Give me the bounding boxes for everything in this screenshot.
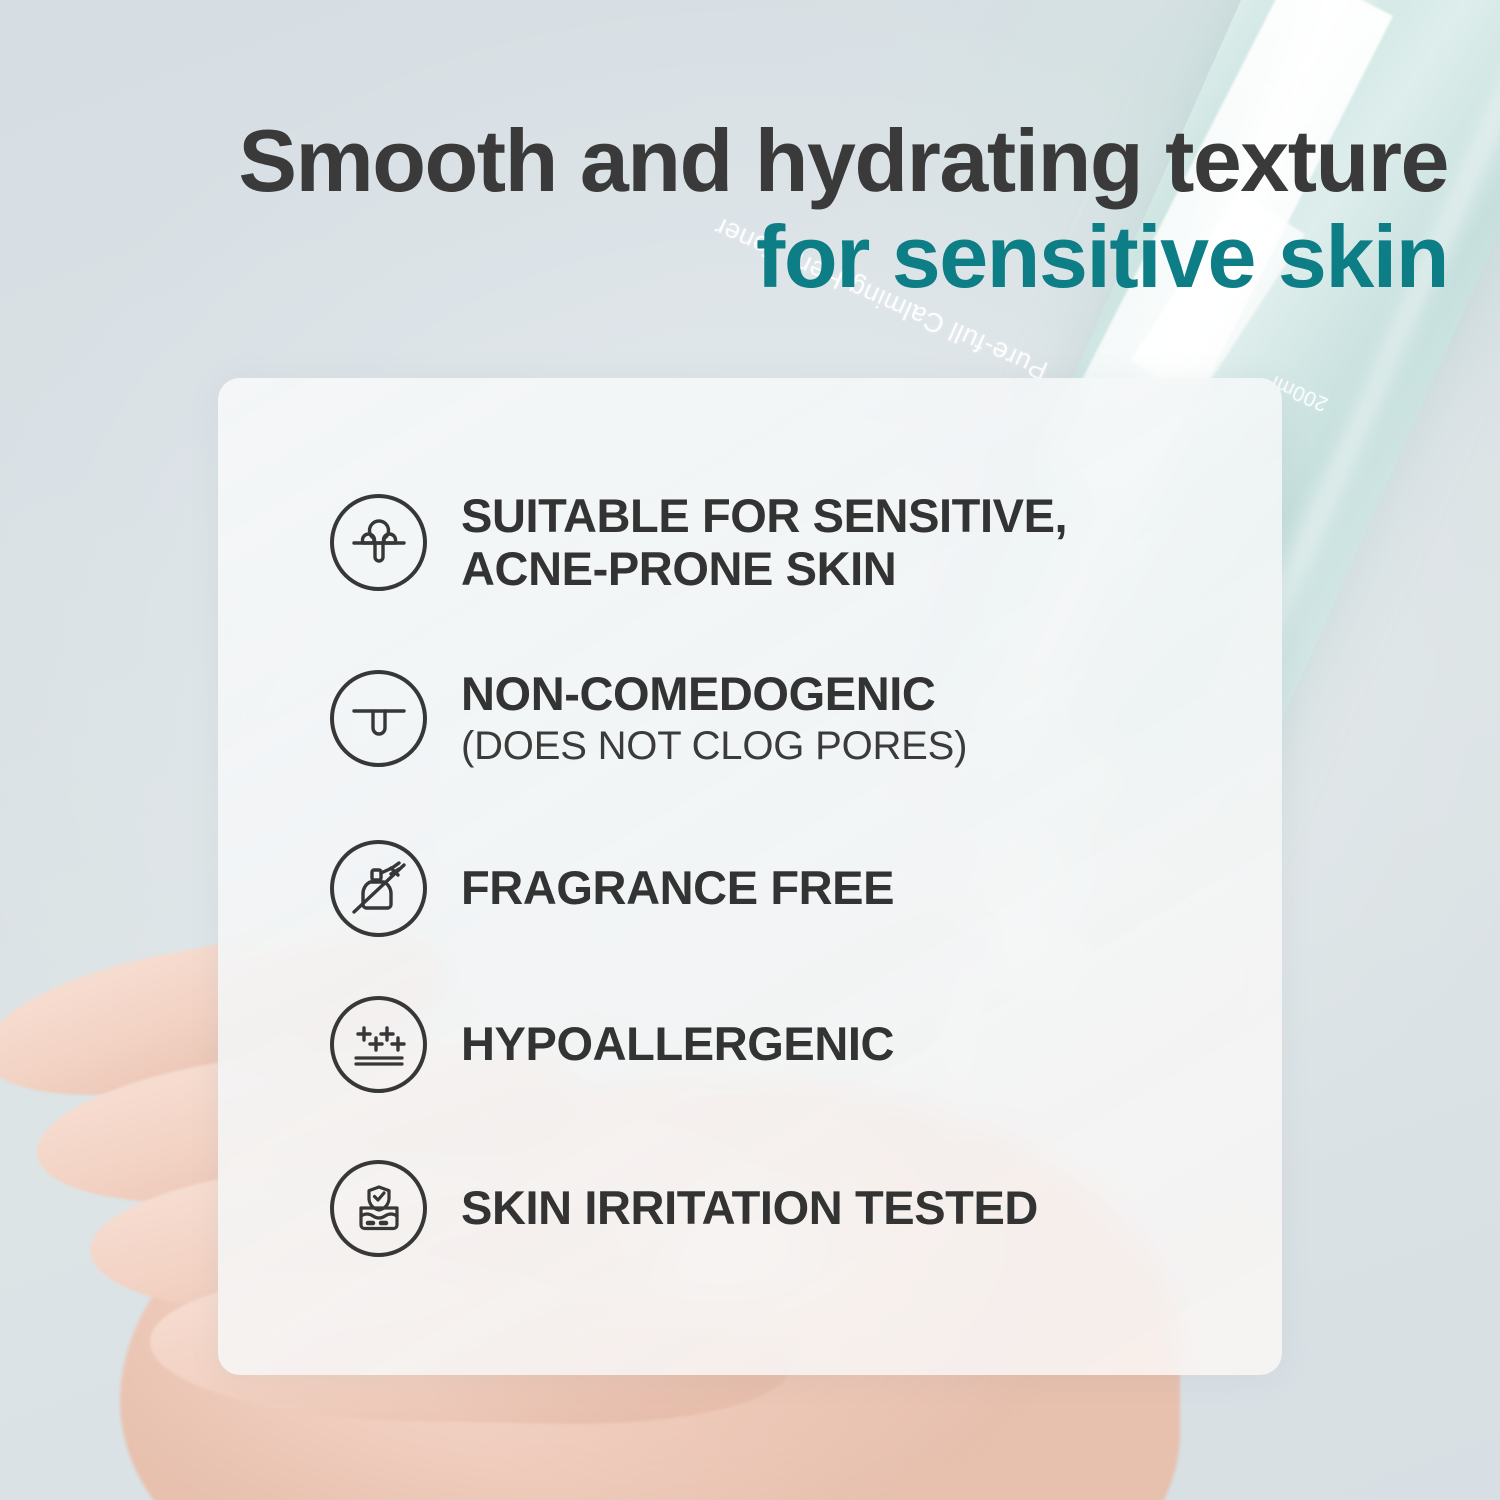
feature-list: SUITABLE FOR SENSITIVE, ACNE-PRONE SKIN … (330, 378, 1290, 1375)
clear-pore-icon (330, 670, 427, 767)
feature-text-sensitive-skin: SUITABLE FOR SENSITIVE, ACNE-PRONE SKIN (461, 490, 1067, 595)
shield-check-skin-icon (330, 1160, 427, 1257)
headline-line-1: Smooth and hydrating texture (0, 116, 1448, 206)
feature-text-fragrance-free: FRAGRANCE FREE (461, 862, 894, 915)
feature-text-hypoallergenic: HYPOALLERGENIC (461, 1018, 894, 1071)
no-perfume-bottle-icon (330, 840, 427, 937)
feature-item-sensitive-skin: SUITABLE FOR SENSITIVE, ACNE-PRONE SKIN (330, 490, 1067, 595)
feature-title: NON-COMEDOGENIC (461, 668, 967, 721)
feature-text-irritation-tested: SKIN IRRITATION TESTED (461, 1182, 1038, 1235)
feature-text-non-comedogenic: NON-COMEDOGENIC (DOES NOT CLOG PORES) (461, 668, 967, 769)
feature-subtitle: (DOES NOT CLOG PORES) (461, 723, 967, 769)
feature-title: FRAGRANCE FREE (461, 862, 894, 915)
pore-sebum-icon (330, 494, 427, 591)
feature-item-fragrance-free: FRAGRANCE FREE (330, 840, 894, 937)
headline: Smooth and hydrating texture for sensiti… (0, 116, 1448, 302)
feature-item-hypoallergenic: HYPOALLERGENIC (330, 996, 894, 1093)
feature-title-line-1: SUITABLE FOR SENSITIVE, (461, 490, 1067, 543)
feature-item-irritation-tested: SKIN IRRITATION TESTED (330, 1160, 1038, 1257)
product-feature-graphic: Pure-full Calming Herb Toner 200ml Smoot… (0, 0, 1500, 1500)
feature-title: SKIN IRRITATION TESTED (461, 1182, 1038, 1235)
feature-title-line-2: ACNE-PRONE SKIN (461, 543, 1067, 596)
headline-line-2: for sensitive skin (0, 212, 1448, 302)
sparkle-skin-layers-icon (330, 996, 427, 1093)
feature-title: HYPOALLERGENIC (461, 1018, 894, 1071)
feature-item-non-comedogenic: NON-COMEDOGENIC (DOES NOT CLOG PORES) (330, 668, 967, 769)
